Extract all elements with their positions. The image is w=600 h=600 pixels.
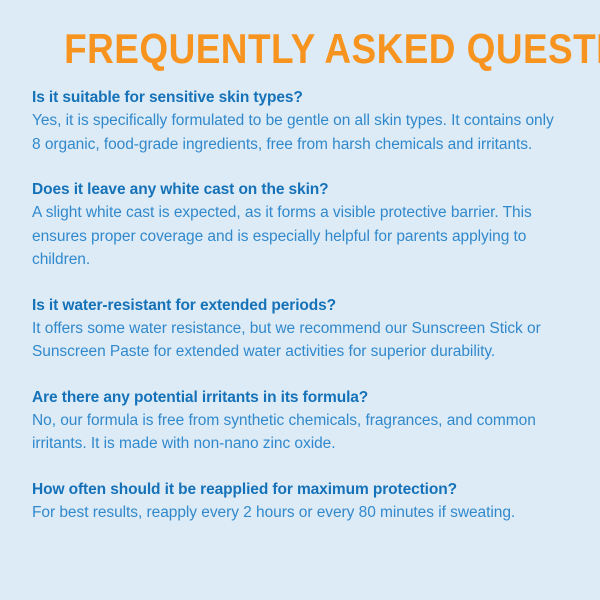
faq-question: Is it suitable for sensitive skin types? <box>32 86 556 109</box>
faq-question: Is it water-resistant for extended perio… <box>32 294 556 317</box>
faq-item: Is it water-resistant for extended perio… <box>32 294 556 364</box>
faq-question: Are there any potential irritants in its… <box>32 386 556 409</box>
faq-item: Are there any potential irritants in its… <box>32 386 556 456</box>
faq-question: Does it leave any white cast on the skin… <box>32 178 556 201</box>
faq-answer: It offers some water resistance, but we … <box>32 317 556 364</box>
faq-answer: Yes, it is specifically formulated to be… <box>32 109 556 156</box>
faq-answer: No, our formula is free from synthetic c… <box>32 409 556 456</box>
faq-page: FREQUENTLY ASKED QUESTIONS Is it suitabl… <box>0 0 600 600</box>
faq-item: Is it suitable for sensitive skin types?… <box>32 86 556 156</box>
faq-item: Does it leave any white cast on the skin… <box>32 178 556 272</box>
faq-answer: For best results, reapply every 2 hours … <box>32 501 556 525</box>
faq-question: How often should it be reapplied for max… <box>32 478 556 501</box>
faq-answer: A slight white cast is expected, as it f… <box>32 201 556 272</box>
page-title: FREQUENTLY ASKED QUESTIONS <box>64 0 536 72</box>
faq-item: How often should it be reapplied for max… <box>32 478 556 525</box>
faq-list: Is it suitable for sensitive skin types?… <box>32 72 568 524</box>
